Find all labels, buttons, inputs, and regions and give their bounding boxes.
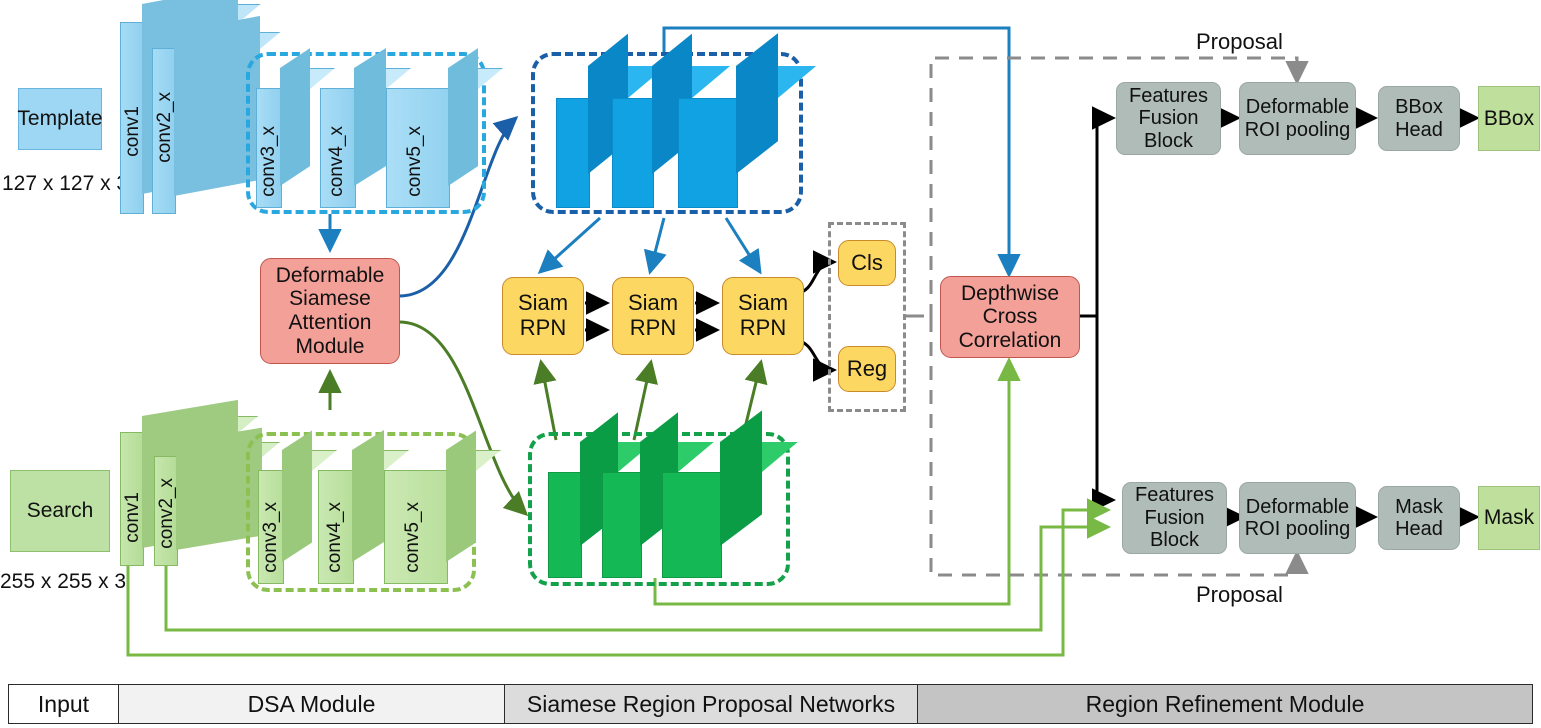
bbox-fusion-line-3: Block [1144,130,1193,152]
deep-green-block-3 [662,472,720,576]
template-conv1-label: conv1 [122,106,144,157]
mask-output: Mask [1478,486,1540,550]
mask-fusion-line-2: Fusion [1144,507,1204,529]
legend-cell-srpn: Siamese Region Proposal Networks [505,685,918,723]
template-conv3-label: conv3_x [258,126,280,197]
search-input-box: Search [10,470,110,552]
correlation-line-2: Cross [983,305,1038,329]
search-dims: 255 x 255 x 3 [0,570,126,594]
mask-deformable-roi-pooling[interactable]: Deformable ROI pooling [1239,482,1356,554]
correlation-line-3: Correlation [959,329,1062,353]
deformable-siamese-attention-module[interactable]: Deformable Siamese Attention Module [260,258,400,364]
template-conv4-label: conv4_x [326,126,348,197]
correlation-line-1: Depthwise [961,282,1059,306]
search-conv4-label: conv4_x [324,502,346,573]
bbox-head-line-1: BBox [1395,96,1443,118]
bbox-output: BBox [1478,86,1540,151]
mask-head-line-2: Head [1395,518,1443,540]
bbox-pooling-line-1: Deformable [1246,96,1349,118]
deep-blue-block-2 [612,98,652,206]
siam-rpn-3-line-1: Siam [738,291,788,316]
dsa-line-1: Deformable [276,264,385,288]
bbox-features-fusion-block[interactable]: Features Fusion Block [1116,82,1221,155]
deep-green-block-1 [548,472,580,576]
mask-proposal-label: Proposal [1196,582,1283,608]
mask-features-fusion-block[interactable]: Features Fusion Block [1122,482,1227,554]
template-conv2-label: conv2_x [154,92,176,163]
bbox-head-block[interactable]: BBox Head [1378,86,1460,151]
deep-blue-block-3 [678,98,736,206]
siam-rpn-2-line-2: RPN [630,316,676,341]
search-conv3-label: conv3_x [260,502,282,573]
legend-cell-input: Input [9,685,119,723]
mask-pooling-line-2: ROI pooling [1245,518,1351,540]
siam-rpn-block-3[interactable]: Siam RPN [722,277,804,355]
deep-green-block-2 [602,472,640,576]
template-input-box: Template [18,88,102,150]
siam-rpn-1-line-2: RPN [520,316,566,341]
deep-blue-block-1 [556,98,588,206]
search-input-label: Search [27,499,94,523]
bbox-fusion-line-2: Fusion [1138,107,1198,129]
reg-label: Reg [847,357,887,382]
bbox-proposal-label: Proposal [1196,29,1283,55]
mask-fusion-line-3: Block [1150,529,1199,551]
architecture-diagram: Template 127 x 127 x 3 Search 255 x 255 … [0,0,1541,728]
dsa-line-2: Siamese [289,287,371,311]
template-input-label: Template [17,107,102,131]
search-conv2-label: conv2_x [156,478,178,549]
mask-head-block[interactable]: Mask Head [1378,486,1460,550]
bbox-output-label: BBox [1484,107,1534,131]
siam-rpn-3-line-2: RPN [740,316,786,341]
search-conv1-label: conv1 [122,492,144,543]
mask-pooling-line-1: Deformable [1246,496,1349,518]
mask-fusion-line-1: Features [1135,484,1214,506]
siam-rpn-block-1[interactable]: Siam RPN [502,277,584,355]
siam-rpn-1-line-1: Siam [518,291,568,316]
bbox-head-line-2: Head [1395,119,1443,141]
dsa-line-3: Attention [289,311,372,335]
template-conv5-label: conv5_x [404,126,426,197]
siam-rpn-block-2[interactable]: Siam RPN [612,277,694,355]
search-conv5-label: conv5_x [402,502,424,573]
bbox-fusion-line-1: Features [1129,85,1208,107]
bbox-deformable-roi-pooling[interactable]: Deformable ROI pooling [1239,82,1356,155]
depthwise-cross-correlation[interactable]: Depthwise Cross Correlation [940,276,1080,358]
mask-head-line-1: Mask [1395,496,1443,518]
template-dims: 127 x 127 x 3 [2,172,128,196]
cls-label: Cls [851,251,883,276]
cls-head-box[interactable]: Cls [838,240,896,286]
siam-rpn-2-line-1: Siam [628,291,678,316]
stage-legend-bar: Input DSA Module Siamese Region Proposal… [8,684,1533,724]
mask-output-label: Mask [1484,506,1534,530]
dsa-line-4: Module [296,335,365,359]
bbox-pooling-line-2: ROI pooling [1245,119,1351,141]
reg-head-box[interactable]: Reg [838,346,896,392]
legend-cell-refinement: Region Refinement Module [918,685,1532,723]
legend-cell-dsa: DSA Module [119,685,505,723]
